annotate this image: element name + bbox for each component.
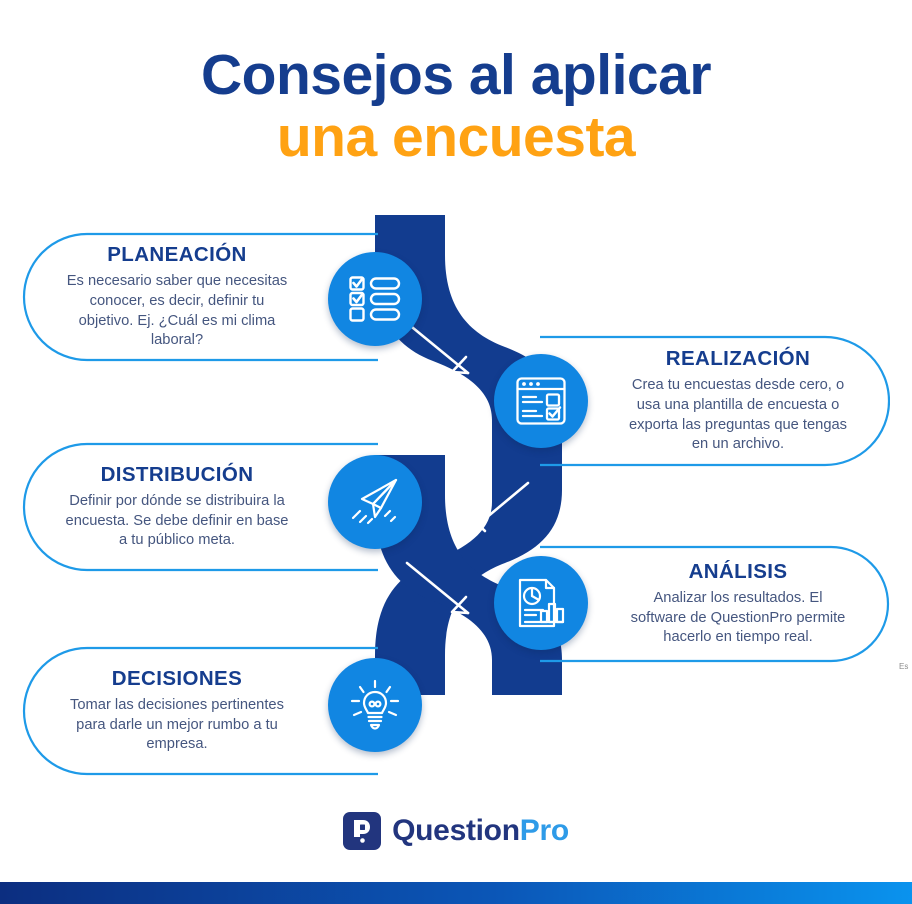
card-body: Crea tu encuestas desde cero, o usa una … <box>626 376 850 454</box>
page-title: Consejos al aplicar una encuesta <box>0 44 912 168</box>
infographic-canvas: Consejos al aplicar una encuesta <box>0 0 912 904</box>
logo-mark-icon <box>343 812 381 850</box>
card-title: DECISIONES <box>112 667 242 691</box>
step-card-decisiones[interactable]: DECISIONES Tomar las decisiones pertinen… <box>22 646 378 776</box>
footer-gradient-bar <box>0 882 912 904</box>
step-card-distribucion[interactable]: DISTRIBUCIÓN Definir por dónde se distri… <box>22 442 378 572</box>
browser-form-icon[interactable] <box>494 354 588 448</box>
questionpro-logo: QuestionPro <box>0 812 912 850</box>
logo-word-pro: Pro <box>520 814 569 847</box>
step-card-planeacion[interactable]: PLANEACIÓN Es necesario saber que necesi… <box>22 232 378 362</box>
report-chart-icon[interactable] <box>494 556 588 650</box>
card-title: PLANEACIÓN <box>107 243 247 267</box>
card-body: Analizar los resultados. El software de … <box>626 589 850 648</box>
card-title: ANÁLISIS <box>689 560 788 584</box>
edge-text-fragment: Es <box>899 662 908 671</box>
title-line-accent: una encuesta <box>0 106 912 168</box>
title-line-primary: Consejos al aplicar <box>0 44 912 106</box>
lightbulb-icon[interactable] <box>328 658 422 752</box>
card-body: Definir por dónde se distribuira la encu… <box>62 492 292 551</box>
logo-wordmark: QuestionPro <box>392 814 569 848</box>
card-title: DISTRIBUCIÓN <box>101 463 254 487</box>
card-body: Es necesario saber que necesitas conocer… <box>62 272 292 350</box>
checklist-icon[interactable] <box>328 252 422 346</box>
card-body: Tomar las decisiones pertinentes para da… <box>62 696 292 755</box>
paper-plane-icon[interactable] <box>328 455 422 549</box>
card-title: REALIZACIÓN <box>666 347 810 371</box>
step-card-analisis[interactable]: ANÁLISIS Analizar los resultados. El sof… <box>540 545 890 663</box>
step-card-realizacion[interactable]: REALIZACIÓN Crea tu encuestas desde cero… <box>540 335 890 467</box>
logo-word-question: Question <box>392 814 520 847</box>
